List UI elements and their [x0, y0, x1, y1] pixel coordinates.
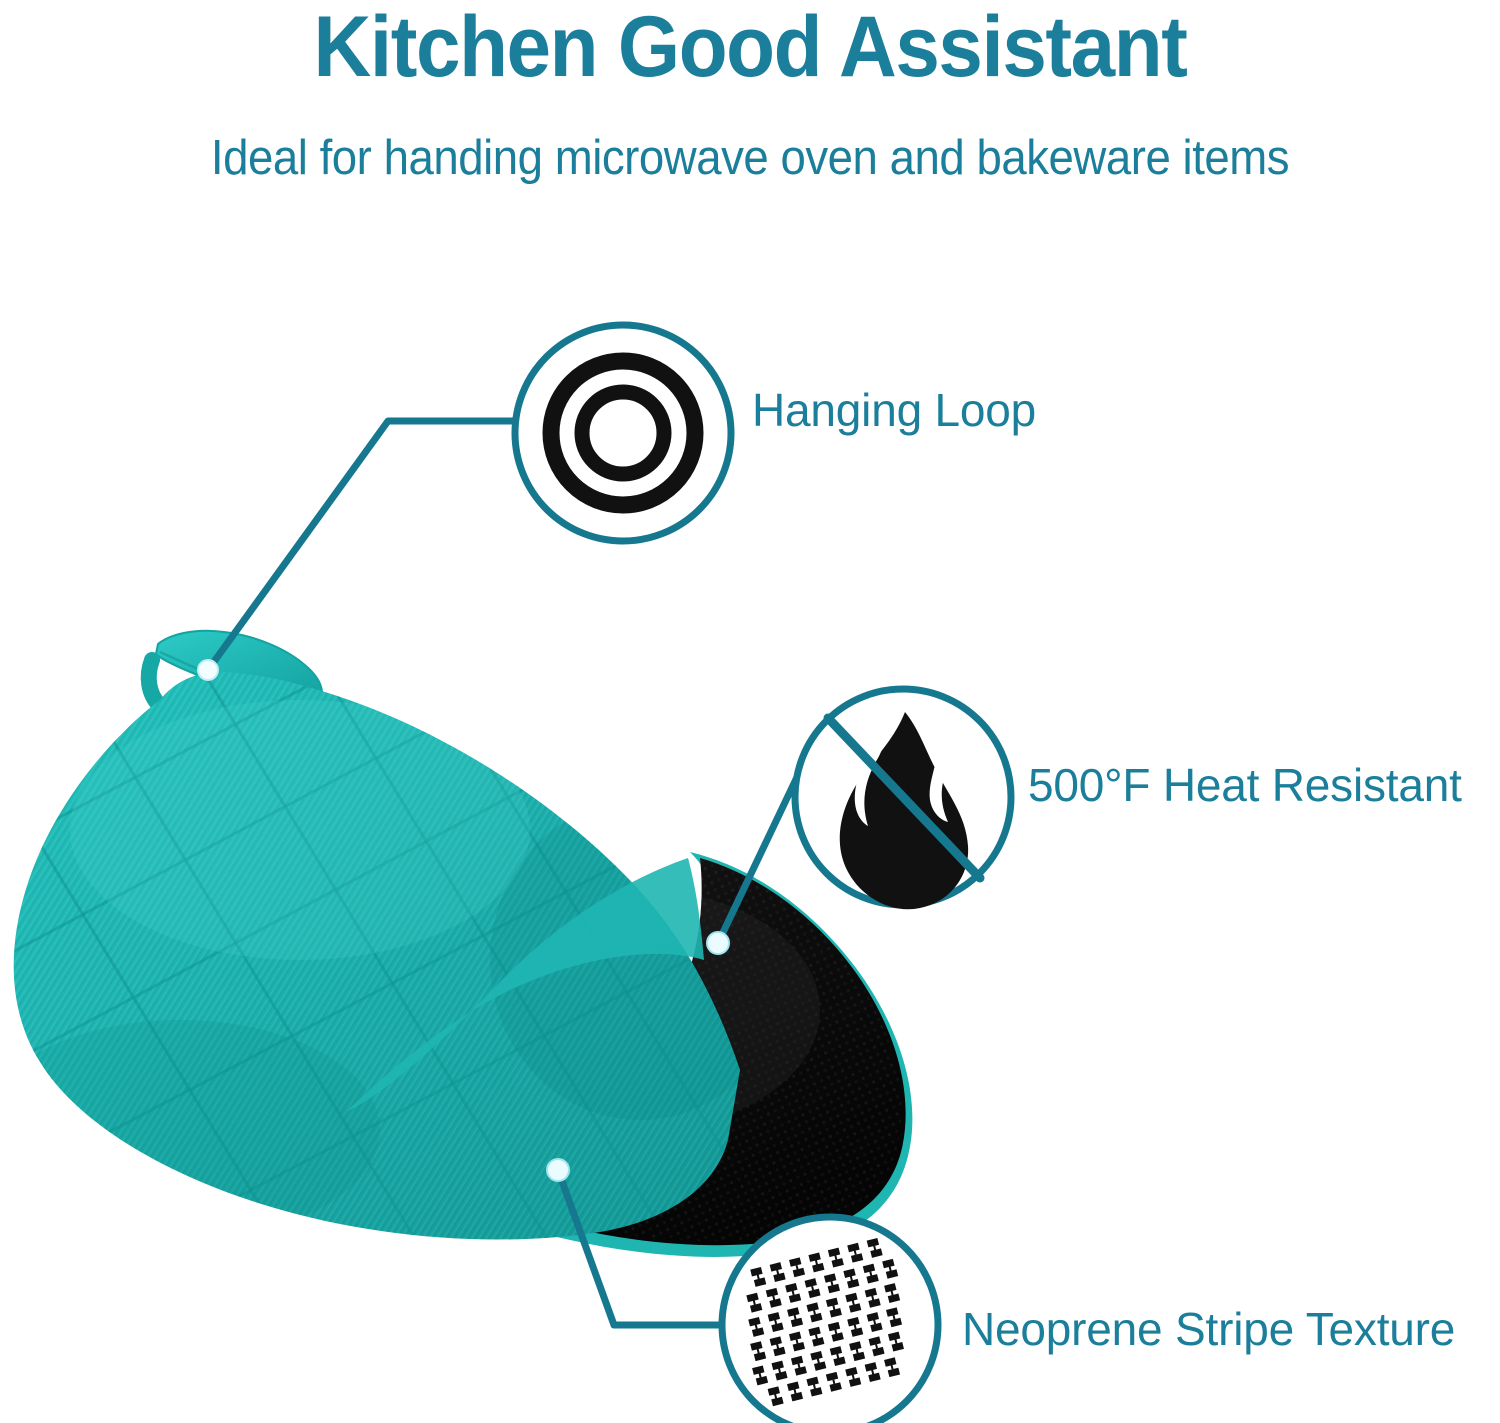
- callout-label-neoprene: Neoprene Stripe Texture: [962, 1306, 1455, 1352]
- anchor-dot-neoprene: [547, 1159, 569, 1181]
- anchor-dot-heat-resistant: [707, 932, 729, 954]
- anchor-dot-hanging-loop: [198, 660, 218, 680]
- callout-badge-neoprene[interactable]: [722, 1217, 938, 1423]
- callout-badge-heat-resistant[interactable]: [795, 689, 1011, 909]
- callout-badge-hanging-loop[interactable]: [515, 325, 731, 541]
- product-infographic-page: Kitchen Good Assistant Ideal for handing…: [0, 0, 1500, 1423]
- leader-line-hanging-loop: [208, 421, 516, 670]
- product-illustration: [0, 0, 1500, 1423]
- callout-label-heat-resistant: 500°F Heat Resistant: [1028, 762, 1462, 808]
- callout-label-hanging-loop: Hanging Loop: [752, 387, 1036, 433]
